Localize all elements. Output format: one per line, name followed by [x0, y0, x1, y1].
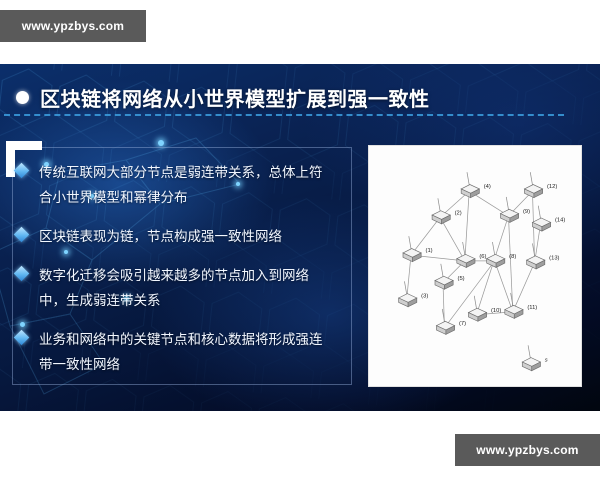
- diamond-bullet-icon: [14, 227, 30, 243]
- network-edge: [440, 217, 465, 261]
- network-node-label: (5): [458, 276, 465, 282]
- watermark-top-text: www.ypzbys.com: [22, 19, 124, 33]
- network-node: (5): [435, 264, 465, 289]
- network-node-label: (4): [484, 184, 491, 190]
- network-node-label: (9): [523, 209, 530, 215]
- network-node: (13): [527, 243, 560, 268]
- network-node: (8): [487, 242, 517, 267]
- network-node: s: [522, 345, 548, 370]
- network-node: (14): [532, 206, 565, 231]
- watermark-top: www.ypzbys.com: [0, 10, 146, 42]
- network-edge: [444, 261, 494, 328]
- bullet-list: 传统互联网大部分节点是弱连带关系，总体上符合小世界模型和幂律分布 区块链表现为链…: [16, 160, 352, 391]
- network-node-label: (2): [455, 210, 462, 216]
- glow-node: [158, 140, 164, 146]
- bullet-text: 区块链表现为链，节点构成强一致性网络: [39, 224, 335, 249]
- list-item: 传统互联网大部分节点是弱连带关系，总体上符合小世界模型和幂律分布: [16, 160, 352, 210]
- bullet-text: 传统互联网大部分节点是弱连带关系，总体上符合小世界模型和幂律分布: [39, 160, 335, 210]
- watermark-bottom-text: www.ypzbys.com: [476, 443, 578, 457]
- network-node-label: (3): [421, 293, 428, 299]
- network-edge: [495, 261, 513, 312]
- network-node: (3): [399, 281, 429, 306]
- slide-title-row: 区块链将网络从小世界模型扩展到强一致性: [0, 82, 600, 112]
- network-node-label: (13): [549, 255, 559, 261]
- network-node-label: (8): [509, 254, 516, 260]
- diamond-bullet-icon: [14, 163, 30, 179]
- page-title: 区块链将网络从小世界模型扩展到强一致性: [40, 83, 430, 112]
- bullet-text: 业务和网络中的关键节点和核心数据将形成强连带一致性网络: [39, 327, 335, 377]
- network-edge: [508, 216, 512, 312]
- network-node: (1): [403, 236, 433, 261]
- network-node: (11): [505, 293, 537, 318]
- network-node: (9): [500, 197, 530, 222]
- list-item: 业务和网络中的关键节点和核心数据将形成强连带一致性网络: [16, 327, 352, 377]
- network-node: (10): [468, 296, 501, 321]
- diamond-bullet-icon: [14, 266, 30, 282]
- list-item: 区块链表现为链，节点构成强一致性网络: [16, 224, 352, 249]
- network-node: (4): [461, 172, 491, 197]
- network-node-label: s: [545, 357, 548, 363]
- network-node-label: (11): [527, 305, 537, 311]
- network-node-label: (1): [426, 248, 433, 254]
- list-item: 数字化迁移会吸引越来越多的节点加入到网络中，生成弱连带关系: [16, 263, 352, 313]
- network-diagram-svg: (1)(2)(3)(4)(5)(6)(7)(8)(9)(10)(11)(12)(…: [369, 146, 581, 386]
- title-bullet-dot-icon: [16, 91, 29, 104]
- slide-canvas: 区块链将网络从小世界模型扩展到强一致性 传统互联网大部分节点是弱连带关系，总体上…: [0, 64, 600, 411]
- network-edge: [465, 191, 469, 261]
- network-node: (7): [436, 309, 466, 334]
- bullet-text: 数字化迁移会吸引越来越多的节点加入到网络中，生成弱连带关系: [39, 263, 335, 313]
- network-node-label: (7): [459, 321, 466, 327]
- network-diagram-panel: (1)(2)(3)(4)(5)(6)(7)(8)(9)(10)(11)(12)(…: [368, 145, 582, 387]
- network-node: (12): [524, 172, 557, 197]
- diamond-bullet-icon: [14, 330, 30, 346]
- network-node-label: (10): [491, 308, 501, 314]
- network-node-label: (12): [547, 184, 557, 190]
- network-node-label: (6): [479, 254, 486, 260]
- network-node-label: (14): [555, 218, 565, 224]
- watermark-bottom: www.ypzbys.com: [455, 434, 600, 466]
- title-divider: [4, 114, 564, 116]
